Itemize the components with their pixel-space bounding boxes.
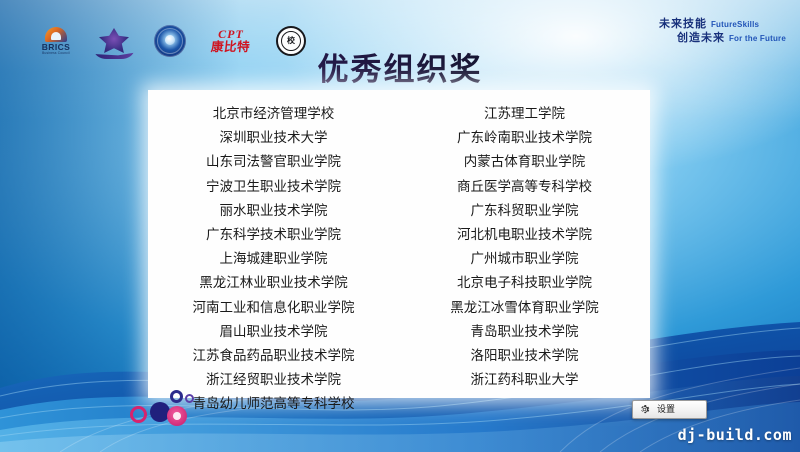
award-list-item: 北京电子科技职业学院 — [399, 271, 650, 295]
award-list-item: 江苏食品药品职业技术学院 — [148, 344, 399, 368]
gear-decor-icon-1 — [130, 406, 147, 423]
award-list-item: 丽水职业技术学院 — [148, 199, 399, 223]
award-list-item: 山东司法警官职业学院 — [148, 150, 399, 174]
award-list-item: 商丘医学高等专科学校 — [399, 175, 650, 199]
slogan-line1-en: FutureSkills — [711, 20, 759, 30]
award-list-item: 广州城市职业学院 — [399, 247, 650, 271]
award-list-item: 北京市经济管理学校 — [148, 102, 399, 126]
award-list-item: 宁波卫生职业技术学院 — [148, 175, 399, 199]
award-list-item: 内蒙古体育职业学院 — [399, 150, 650, 174]
settings-popup[interactable]: 设置 — [632, 400, 707, 419]
gear-icon[interactable] — [639, 404, 650, 415]
award-list-item: 洛阳职业技术学院 — [399, 344, 650, 368]
slogan-line2-en: For the Future — [729, 34, 786, 44]
award-list-item: 黑龙江冰雪体育职业学院 — [399, 296, 650, 320]
event-slogan: 未来技能 FutureSkills 创造未来 For the Future — [659, 18, 786, 46]
gear-decor-icon-3 — [167, 406, 187, 426]
settings-label[interactable]: 设置 — [657, 405, 675, 414]
page-title: 优秀组织奖 — [0, 44, 800, 89]
gear-decor-icon-4 — [170, 390, 183, 403]
award-list-item: 浙江药科职业大学 — [399, 368, 650, 392]
award-list-item: 广东岭南职业技术学院 — [399, 126, 650, 150]
award-list-item: 黑龙江林业职业技术学院 — [148, 271, 399, 295]
site-watermark: dj-build.com — [678, 426, 792, 444]
award-list-item: 青岛职业技术学院 — [399, 320, 650, 344]
award-list-item: 广东科贸职业学院 — [399, 199, 650, 223]
award-list-item: 河南工业和信息化职业学院 — [148, 296, 399, 320]
award-list-item: 深圳职业技术大学 — [148, 126, 399, 150]
award-list-item: 广东科学技术职业学院 — [148, 223, 399, 247]
award-list-item: 江苏理工学院 — [399, 102, 650, 126]
slide-root: BRICS Business Council CPT 康比特 校 未来技能 Fu… — [0, 0, 800, 452]
award-list-item: 眉山职业技术学院 — [148, 320, 399, 344]
cpt-logo-en: CPT — [218, 28, 244, 40]
brics-mark-icon — [45, 27, 67, 42]
award-list-item: 河北机电职业技术学院 — [399, 223, 650, 247]
award-list-panel: 北京市经济管理学校深圳职业技术大学山东司法警官职业学院宁波卫生职业技术学院丽水职… — [148, 90, 650, 398]
gear-decor-icon-5 — [185, 394, 194, 403]
award-column-right: 江苏理工学院广东岭南职业技术学院内蒙古体育职业学院商丘医学高等专科学校广东科贸职… — [399, 102, 650, 398]
award-column-left: 北京市经济管理学校深圳职业技术大学山东司法警官职业学院宁波卫生职业技术学院丽水职… — [148, 102, 399, 398]
gear-decoration — [112, 386, 222, 430]
award-list-item: 上海城建职业学院 — [148, 247, 399, 271]
slogan-line1-cn: 未来技能 — [659, 18, 707, 32]
